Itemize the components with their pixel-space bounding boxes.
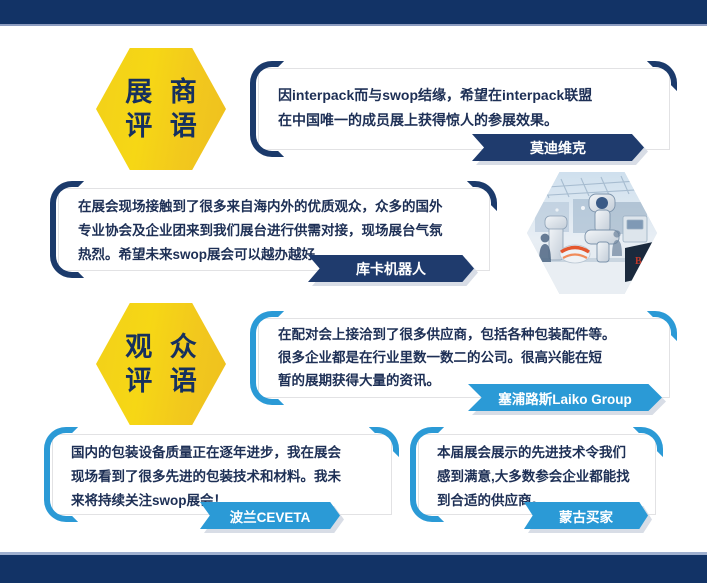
testimonial-page: 展 商 评 语 因interpack而与swop结缘，希望在interpack联…	[0, 0, 707, 583]
quote-line: 在配对会上接洽到了很多供应商，包括各种包装配件等。	[278, 323, 616, 346]
exhibition-booth-photo: B n	[527, 172, 657, 294]
quote-line: 现场看到了很多先进的包装技术和材料。我未	[71, 465, 341, 489]
author-name: 塞浦路斯Laiko Group	[498, 388, 632, 408]
author-badge-kuka: 库卡机器人	[308, 255, 474, 282]
quote-line: 本届展会展示的先进技术令我们	[437, 441, 630, 465]
quote-line: 很多企业都是在行业里数一数二的公司。很高兴能在短	[278, 346, 616, 369]
bottom-navy-bar	[0, 555, 707, 583]
quote-line: 因interpack而与swop结缘，希望在interpack联盟	[278, 83, 592, 108]
top-bar-rule	[0, 24, 707, 26]
author-name: 库卡机器人	[356, 259, 426, 279]
hex-label-line-1: 观 众	[120, 331, 202, 364]
hex-label-line-2: 评 语	[120, 110, 202, 143]
quote-line: 在展会现场接触到了很多来自海内外的优质观众，众多的国外	[78, 195, 443, 219]
hex-label-line-2: 评 语	[120, 365, 202, 398]
author-name: 波兰CEVETA	[230, 506, 311, 526]
quote-line: 国内的包装设备质量正在逐年进步，我在展会	[71, 441, 341, 465]
exhibitor-comments-hex-badge: 展 商 评 语	[96, 48, 226, 170]
author-badge-mongolia: 蒙古买家	[524, 502, 648, 529]
author-badge-laiko: 塞浦路斯Laiko Group	[468, 384, 662, 411]
svg-text:B: B	[635, 256, 642, 267]
testimonial-card-modiweike: 因interpack而与swop结缘，希望在interpack联盟 在中国唯一的…	[258, 68, 670, 150]
hex-label-line-1: 展 商	[120, 76, 202, 109]
testimonial-text-laiko: 在配对会上接洽到了很多供应商，包括各种包装配件等。 很多企业都是在行业里数一数二…	[278, 323, 616, 392]
testimonial-card-mongolia: 本届展会展示的先进技术令我们 感到满意,大多数参会企业都能找 到合适的供应商。 …	[418, 434, 656, 515]
quote-line: 感到满意,大多数参会企业都能找	[437, 465, 630, 489]
author-name: 蒙古买家	[559, 506, 613, 526]
booth-photo-illustration: B n	[527, 172, 657, 294]
author-badge-ceveta: 波兰CEVETA	[200, 502, 340, 529]
testimonial-card-kuka: 在展会现场接触到了很多来自海内外的优质观众，众多的国外 专业协会及企业团来到我们…	[58, 188, 490, 271]
testimonial-card-laiko: 在配对会上接洽到了很多供应商，包括各种包装配件等。 很多企业都是在行业里数一数二…	[258, 318, 670, 398]
quote-line: 专业协会及企业团来到我们展台进行供需对接，现场展台气氛	[78, 219, 443, 243]
testimonial-card-ceveta: 国内的包装设备质量正在逐年进步，我在展会 现场看到了很多先进的包装技术和材料。我…	[52, 434, 392, 515]
author-name: 莫迪维克	[530, 138, 586, 158]
testimonial-text-modiweike: 因interpack而与swop结缘，希望在interpack联盟 在中国唯一的…	[278, 83, 592, 133]
quote-line: 在中国唯一的成员展上获得惊人的参展效果。	[278, 108, 592, 133]
svg-text:n: n	[637, 268, 641, 277]
visitor-comments-hex-badge: 观 众 评 语	[96, 303, 226, 425]
top-navy-bar	[0, 0, 707, 24]
author-badge-modiweike: 莫迪维克	[472, 134, 644, 161]
